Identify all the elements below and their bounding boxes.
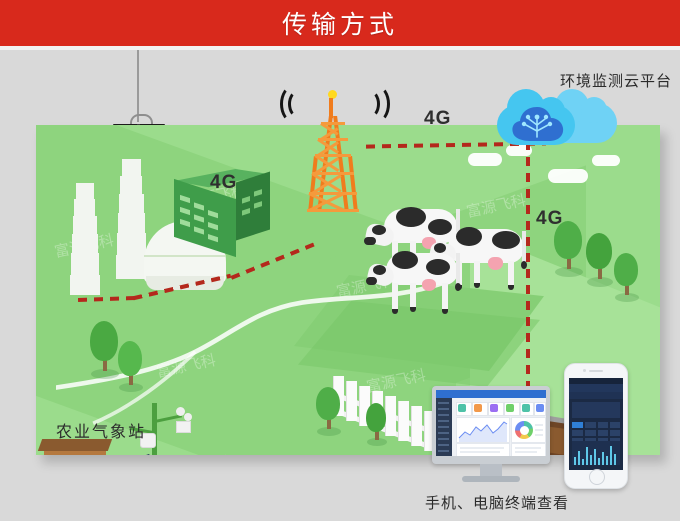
cell-tower-icon: [299, 96, 365, 211]
phone-table-cell: [585, 430, 596, 436]
donut-chart-card: [511, 417, 546, 443]
phone-table-cell: [572, 422, 583, 428]
kpi-card: [520, 402, 534, 416]
solar-panel: [115, 454, 157, 455]
table-card: [511, 443, 546, 456]
tree: [316, 387, 342, 437]
smokestack: [72, 183, 98, 293]
phone-nav-bar: [569, 384, 623, 392]
dashboard-sidebar: [436, 398, 452, 456]
kpi-card: [488, 402, 504, 416]
page-title: 传输方式: [0, 0, 680, 46]
phone-table-cell: [610, 430, 620, 436]
phone-table-cell: [610, 422, 620, 428]
kpi-card: [456, 402, 472, 416]
phone-speaker: [589, 370, 603, 372]
dairy-cow: [370, 245, 470, 323]
terminal-label: 手机、电脑终端查看: [425, 492, 569, 513]
phone-table-cell: [572, 430, 583, 436]
phone-table-cell: [598, 422, 608, 428]
monitor-bezel: [432, 386, 550, 464]
tree: [586, 233, 614, 287]
kpi-card: [534, 402, 546, 416]
signal-arc-right: [364, 85, 390, 123]
banner-underline: [0, 46, 680, 50]
link-label-4g-tower: 4G: [424, 108, 451, 130]
scene-cloud: [592, 155, 620, 166]
scene-cloud: [468, 153, 502, 166]
line-chart: [457, 418, 509, 442]
cloud-circuit-glyph: [509, 101, 565, 143]
donut-chart: [515, 421, 533, 439]
tree: [614, 253, 640, 303]
tree: [90, 321, 120, 379]
phone-home-button[interactable]: [589, 469, 605, 485]
title-banner: 传输方式: [0, 0, 680, 46]
desktop-terminal[interactable]: [432, 386, 550, 486]
phone-screen: [569, 378, 623, 470]
mobile-terminal[interactable]: [564, 363, 628, 489]
phone-table-cell: [598, 430, 608, 436]
sensor-box: [176, 421, 191, 433]
infographic-canvas: 传输方式 富源飞科 富源飞科 富源飞科 富源飞科 富源飞科 富源飞科: [0, 0, 680, 521]
monitor-base: [462, 476, 520, 482]
tree: [366, 403, 388, 447]
cloud-platform-label: 环境监测云平台: [560, 70, 672, 91]
kpi-card: [504, 402, 520, 416]
phone-tab-bar: [569, 392, 623, 399]
line-chart-card: [456, 417, 510, 443]
field-display-board: [44, 447, 106, 455]
phone-bar-chart: [572, 441, 620, 465]
link-label-4g-terminal: 4G: [536, 208, 563, 230]
monitor-screen: [436, 390, 546, 456]
phone-table-cell: [585, 422, 596, 428]
dashboard-header-bar: [436, 390, 546, 398]
kpi-card: [472, 402, 488, 416]
cloud-platform-icon[interactable]: [497, 95, 617, 153]
scene-cloud: [548, 169, 588, 183]
signal-arc-left: [280, 85, 306, 123]
greenhouse: [182, 443, 378, 455]
tree: [118, 341, 144, 393]
phone-info-card: [572, 402, 620, 418]
weather-station-label: 农业气象站: [56, 418, 146, 442]
link-label-4g-station: 4G: [210, 172, 237, 194]
anemometer-cup: [184, 413, 192, 421]
smokestack: [118, 159, 144, 285]
hanging-wire: [137, 50, 139, 122]
phone-camera: [583, 369, 586, 372]
table-card: [456, 443, 510, 456]
